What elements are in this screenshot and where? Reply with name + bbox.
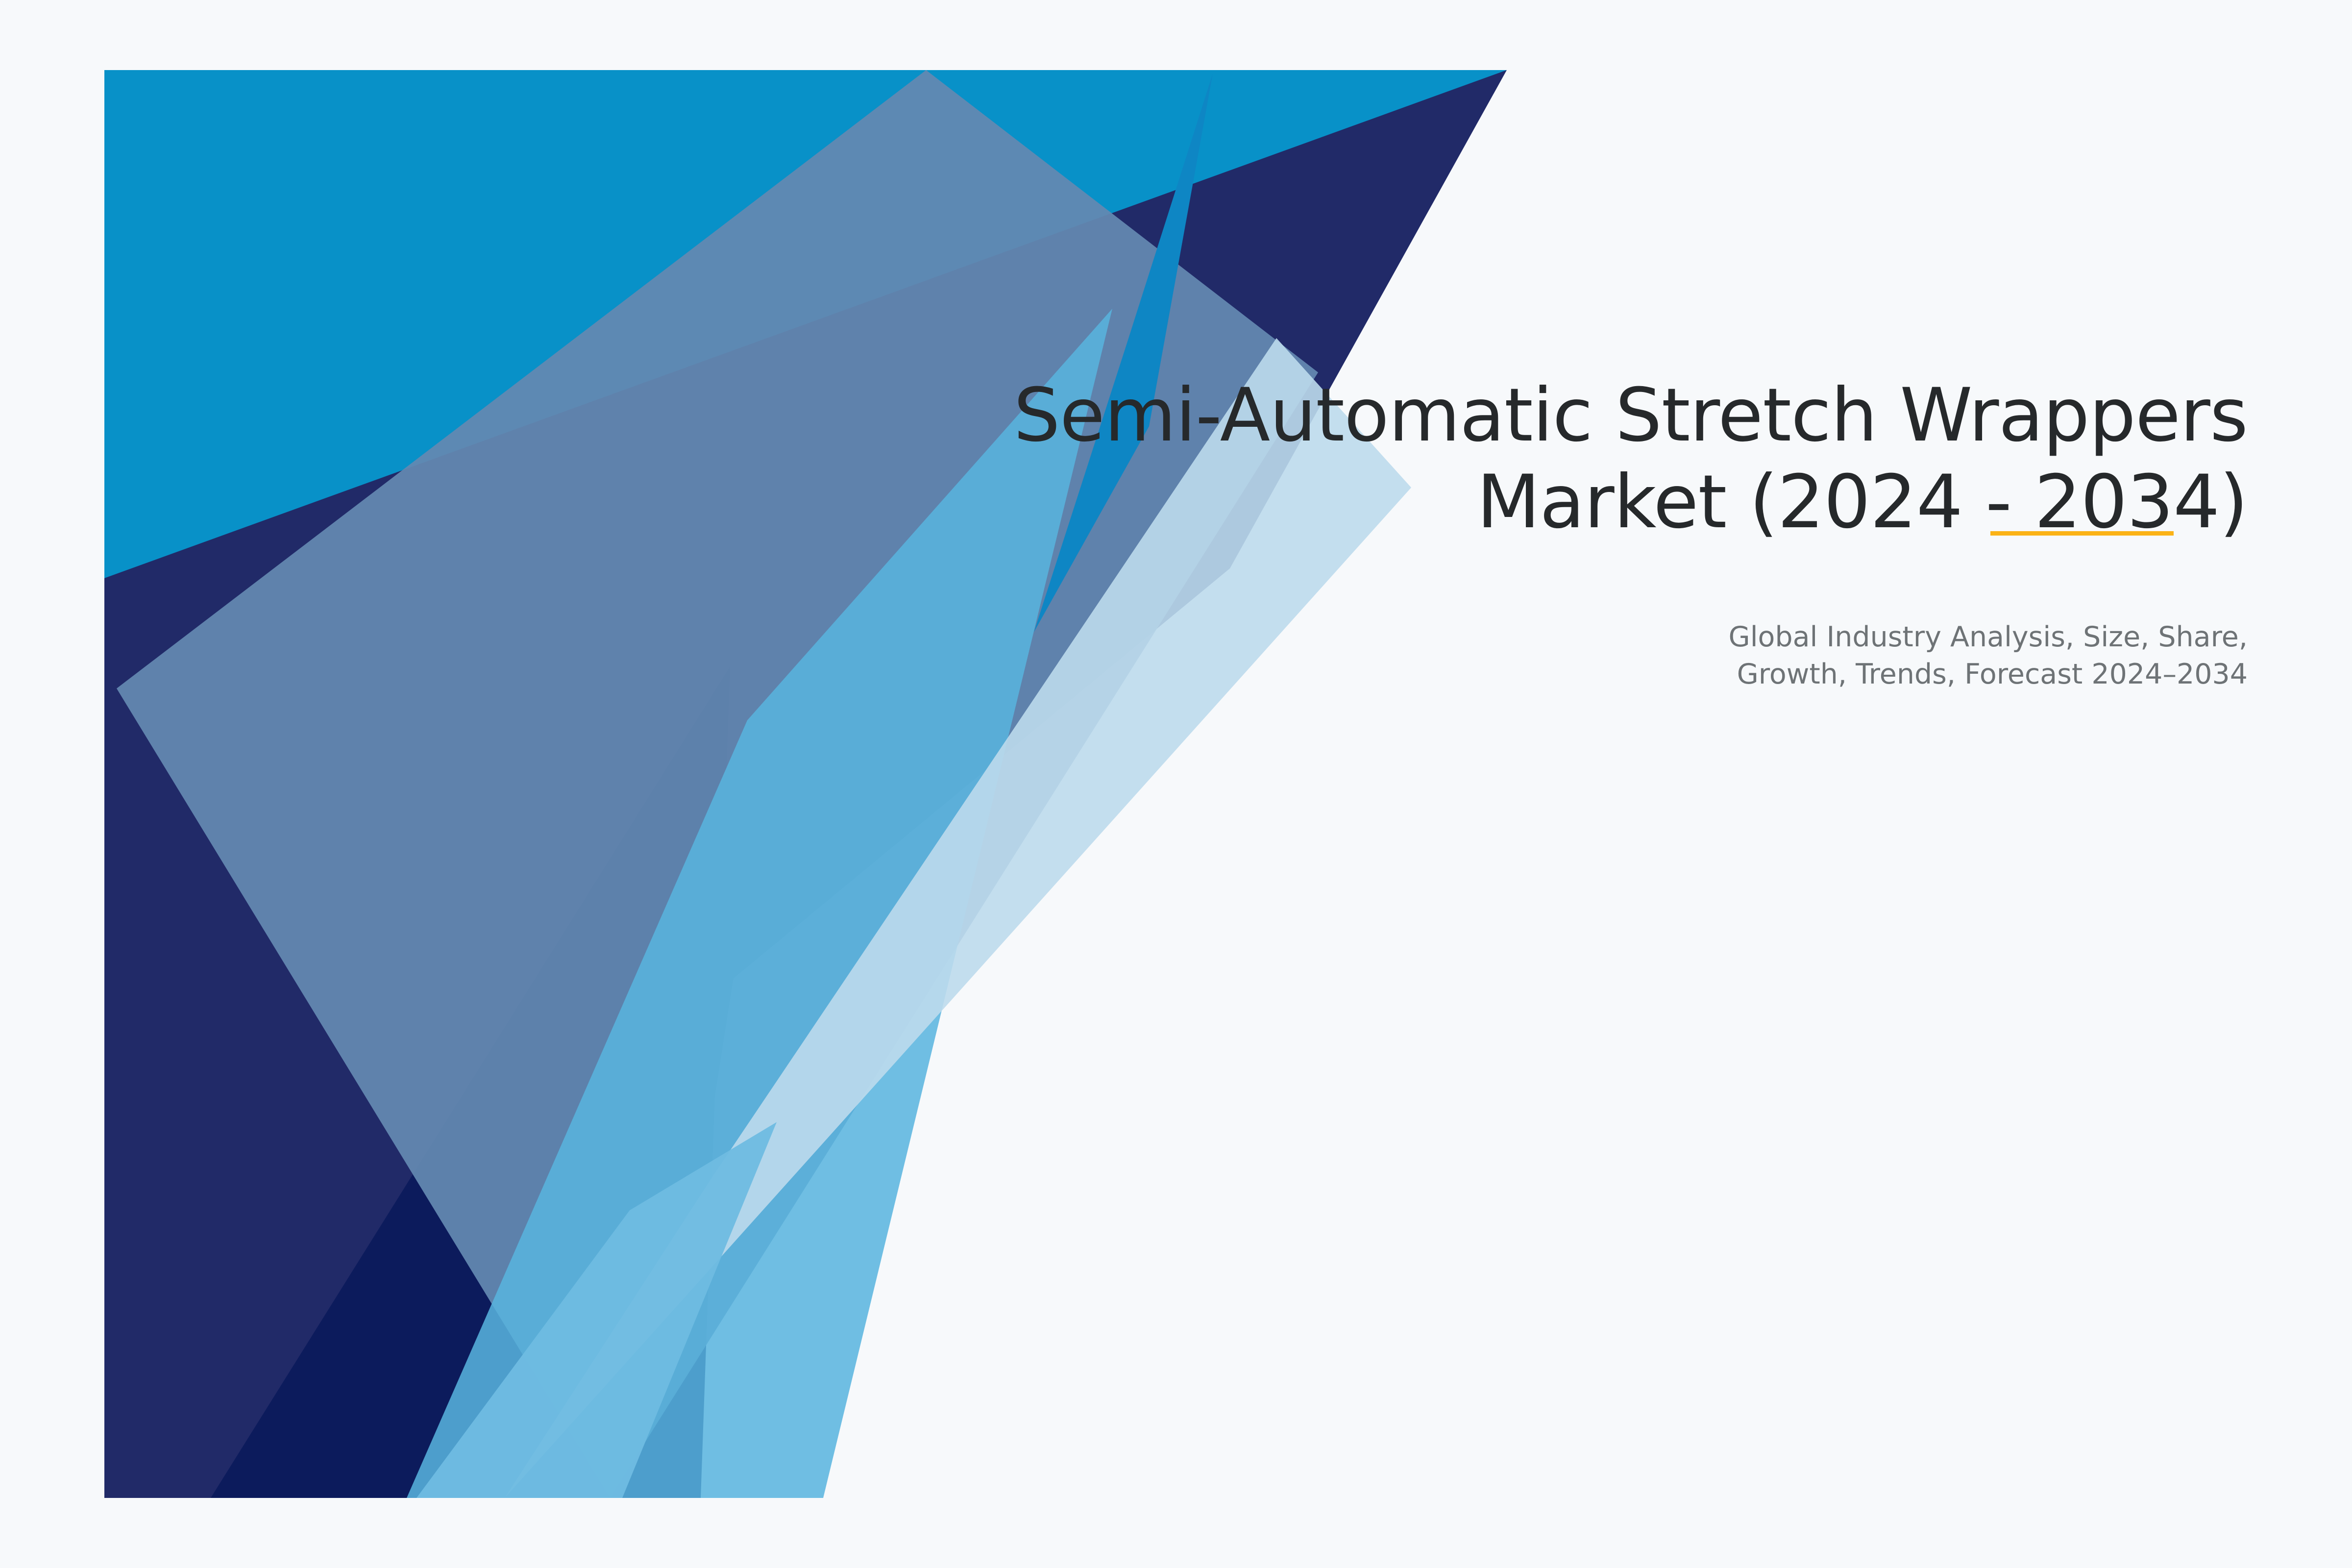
accent-underline-bar <box>1990 531 2174 536</box>
abstract-geometric-artwork <box>0 0 2352 1568</box>
page-title: Semi-Automatic Stretch Wrappers Market (… <box>925 372 2248 546</box>
report-cover-page: Semi-Automatic Stretch Wrappers Market (… <box>0 0 2352 1568</box>
page-subtitle: Global Industry Analysis, Size, Share, G… <box>925 546 2248 693</box>
accent-underline <box>1990 531 2174 536</box>
